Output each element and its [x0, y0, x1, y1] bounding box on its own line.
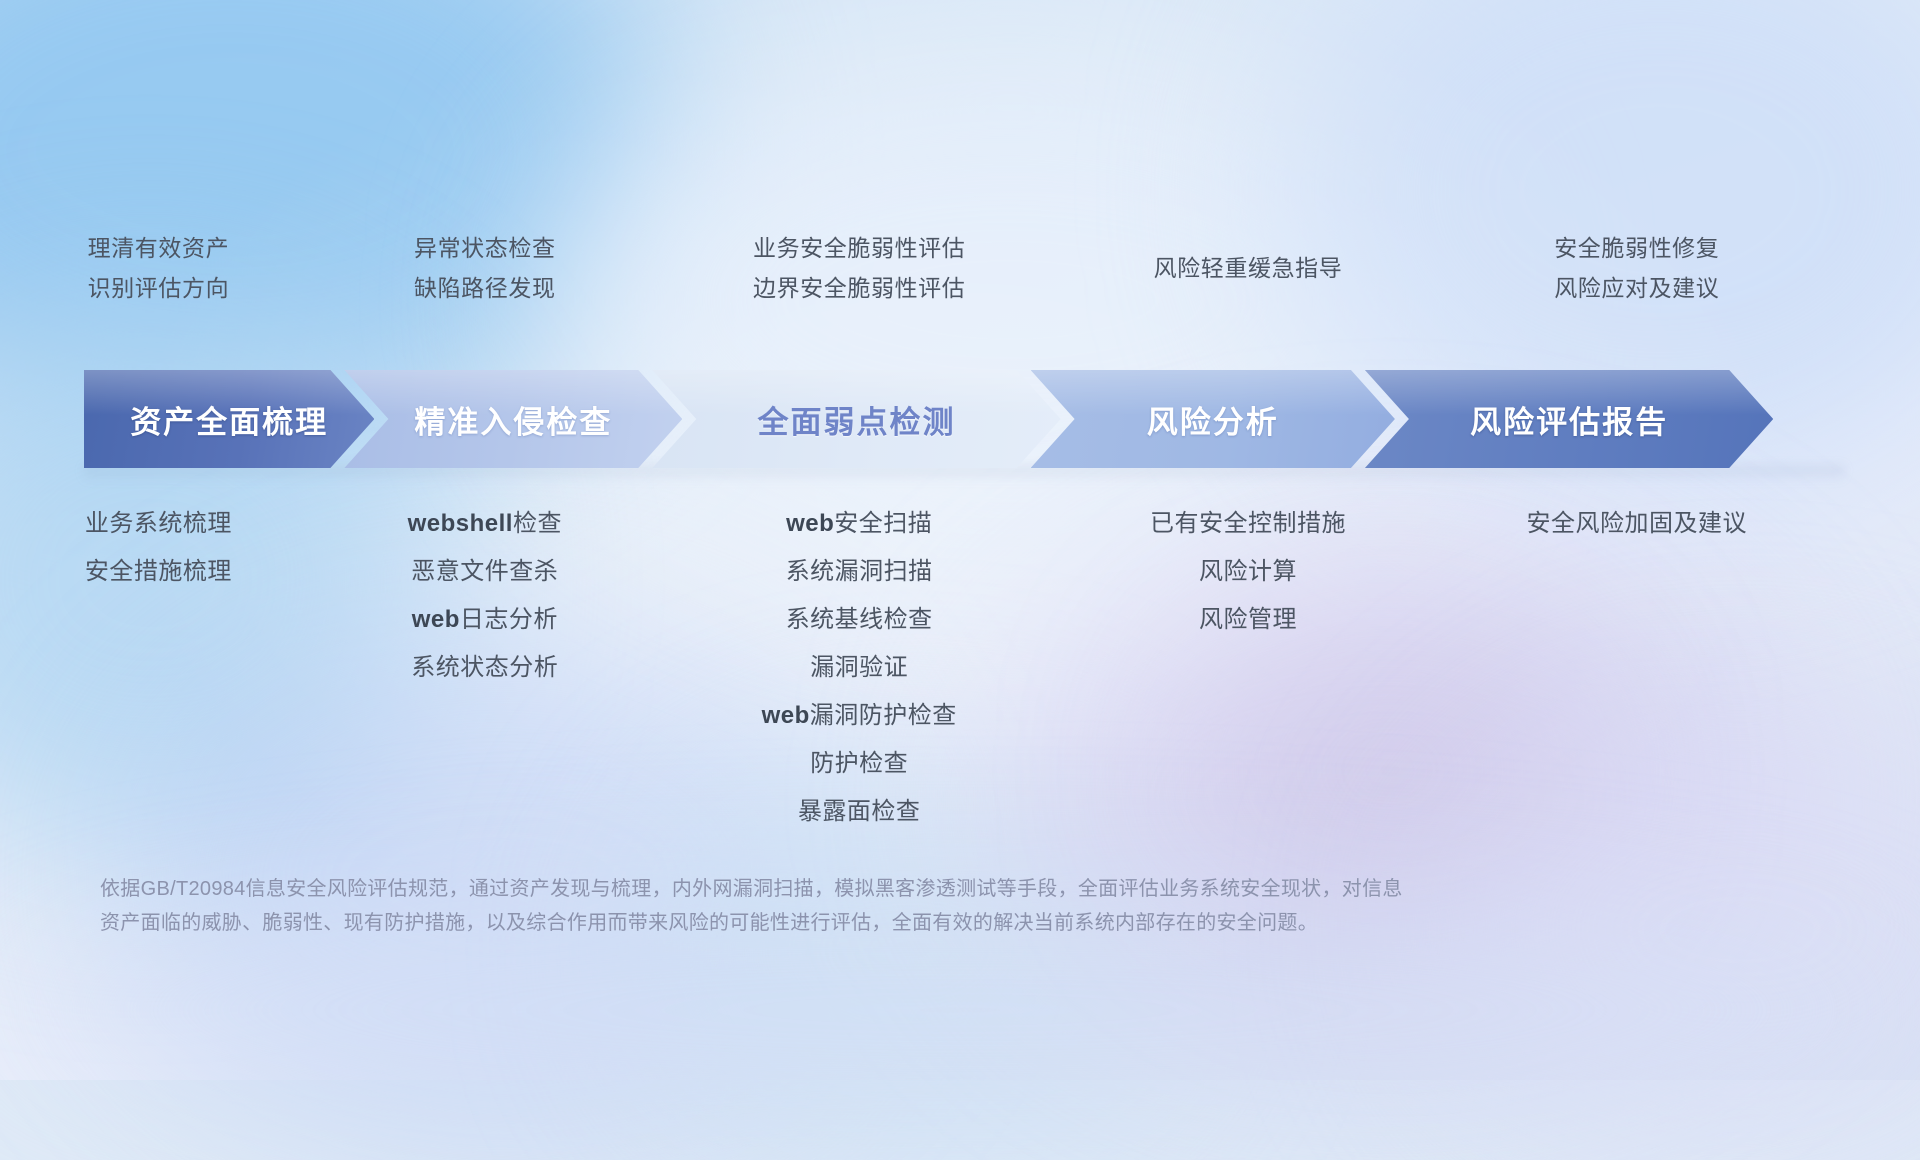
bottom-list-item-text: 暴露面检查: [798, 798, 921, 825]
top-labels-weakness-detection: 业务安全脆弱性评估边界安全脆弱性评估: [653, 228, 1066, 308]
bottom-list-item: web安全扫描: [653, 500, 1066, 548]
top-label-item: 理清有效资产: [0, 228, 317, 268]
stage-chevron-assessment-report[interactable]: 风险评估报告: [1365, 370, 1773, 468]
bottom-list-item: 系统漏洞扫描: [653, 548, 1066, 596]
top-label-row: 理清有效资产识别评估方向异常状态检查缺陷路径发现业务安全脆弱性评估边界安全脆弱性…: [0, 228, 1920, 308]
bottom-list-item-text: 系统基线检查: [786, 606, 933, 633]
bottom-list-item-text: 防护检查: [810, 750, 908, 777]
bottom-list-item: 业务系统梳理: [0, 500, 317, 548]
bottom-list-item-text: 漏洞防护检查: [810, 702, 957, 729]
bottom-list-item: webshell检查: [317, 500, 653, 548]
bottom-list-item: 系统状态分析: [317, 644, 653, 692]
bottom-list-row: 业务系统梳理安全措施梳理webshell检查恶意文件查杀web日志分析系统状态分…: [0, 500, 1920, 836]
bottom-list-item: 风险计算: [1066, 548, 1431, 596]
stage-title-asset-inventory: 资产全面梳理: [130, 397, 328, 442]
bottom-list-item: 恶意文件查杀: [317, 548, 653, 596]
stage-title-weakness-detection: 全面弱点检测: [757, 397, 955, 442]
bottom-list-item-emphasis: web: [762, 702, 810, 729]
bottom-list-item-text: 业务系统梳理: [85, 510, 232, 537]
bottom-list-item-text: 已有安全控制措施: [1150, 510, 1346, 537]
bottom-list-item: web日志分析: [317, 596, 653, 644]
bottom-list-item: 安全措施梳理: [0, 548, 317, 596]
top-labels-asset-inventory: 理清有效资产识别评估方向: [0, 228, 317, 308]
top-label-item: 风险应对及建议: [1430, 268, 1843, 308]
stage-title-risk-analysis: 风险分析: [1147, 397, 1279, 442]
bottom-list-item-text: 风险管理: [1199, 606, 1297, 633]
stage-chevron-weakness-detection[interactable]: 全面弱点检测: [652, 370, 1060, 468]
bottom-list-item-text: 安全扫描: [834, 510, 932, 537]
bottom-list-item-emphasis: web: [786, 510, 834, 537]
bottom-list-item-text: 漏洞验证: [810, 654, 908, 681]
top-label-item: 边界安全脆弱性评估: [653, 268, 1066, 308]
stage-chevron-band: 资产全面梳理精准入侵检查全面弱点检测风险分析风险评估报告: [84, 370, 1844, 468]
bottom-list-item: 防护检查: [653, 740, 1066, 788]
bottom-list-assessment-report: 安全风险加固及建议: [1430, 500, 1843, 548]
bottom-list-item-text: 安全风险加固及建议: [1527, 510, 1748, 537]
footer-line-1: 依据GB/T20984信息安全风险评估规范，通过资产发现与梳理，内外网漏洞扫描，…: [100, 872, 1660, 906]
band-dropshadow: [84, 466, 1844, 482]
top-labels-intrusion-check: 异常状态检查缺陷路径发现: [317, 228, 653, 308]
bottom-list-item-text: 恶意文件查杀: [411, 558, 558, 585]
top-label-item: 识别评估方向: [0, 268, 317, 308]
bottom-list-risk-analysis: 已有安全控制措施风险计算风险管理: [1066, 500, 1431, 644]
stage-chevron-risk-analysis[interactable]: 风险分析: [1031, 370, 1395, 468]
stage-title-intrusion-check: 精准入侵检查: [414, 397, 612, 442]
top-label-item: 异常状态检查: [317, 228, 653, 268]
top-label-item: 业务安全脆弱性评估: [653, 228, 1066, 268]
bottom-list-item-emphasis: web: [412, 606, 460, 633]
top-label-item: 安全脆弱性修复: [1430, 228, 1843, 268]
bottom-list-item: 暴露面检查: [653, 788, 1066, 836]
bottom-list-item-text: 日志分析: [460, 606, 558, 633]
bottom-list-item-text: 检查: [513, 510, 562, 537]
process-diagram: 理清有效资产识别评估方向异常状态检查缺陷路径发现业务安全脆弱性评估边界安全脆弱性…: [0, 0, 1920, 1080]
bottom-list-item: 系统基线检查: [653, 596, 1066, 644]
bottom-list-item-text: 风险计算: [1199, 558, 1297, 585]
top-label-item: 缺陷路径发现: [317, 268, 653, 308]
bottom-list-weakness-detection: web安全扫描系统漏洞扫描系统基线检查漏洞验证web漏洞防护检查防护检查暴露面检…: [653, 500, 1066, 836]
footer-description: 依据GB/T20984信息安全风险评估规范，通过资产发现与梳理，内外网漏洞扫描，…: [100, 872, 1660, 940]
bottom-list-item: 漏洞验证: [653, 644, 1066, 692]
top-labels-risk-analysis: 风险轻重缓急指导: [1066, 228, 1431, 308]
bottom-list-item: web漏洞防护检查: [653, 692, 1066, 740]
footer-line-2: 资产面临的威胁、脆弱性、现有防护措施，以及综合作用而带来风险的可能性进行评估，全…: [100, 906, 1660, 940]
bottom-list-intrusion-check: webshell检查恶意文件查杀web日志分析系统状态分析: [317, 500, 653, 692]
stage-title-assessment-report: 风险评估报告: [1470, 397, 1668, 442]
bottom-list-item: 安全风险加固及建议: [1430, 500, 1843, 548]
bottom-list-item-text: 系统漏洞扫描: [786, 558, 933, 585]
bottom-list-item: 已有安全控制措施: [1066, 500, 1431, 548]
stage-chevron-intrusion-check[interactable]: 精准入侵检查: [344, 370, 682, 468]
bottom-list-item: 风险管理: [1066, 596, 1431, 644]
stage-chevron-asset-inventory[interactable]: 资产全面梳理: [84, 370, 374, 468]
top-labels-assessment-report: 安全脆弱性修复风险应对及建议: [1430, 228, 1843, 308]
bottom-list-item-text: 安全措施梳理: [85, 558, 232, 585]
bottom-list-asset-inventory: 业务系统梳理安全措施梳理: [0, 500, 317, 596]
bottom-list-item-emphasis: webshell: [408, 510, 513, 537]
top-label-item: 风险轻重缓急指导: [1066, 248, 1431, 288]
bottom-list-item-text: 系统状态分析: [411, 654, 558, 681]
